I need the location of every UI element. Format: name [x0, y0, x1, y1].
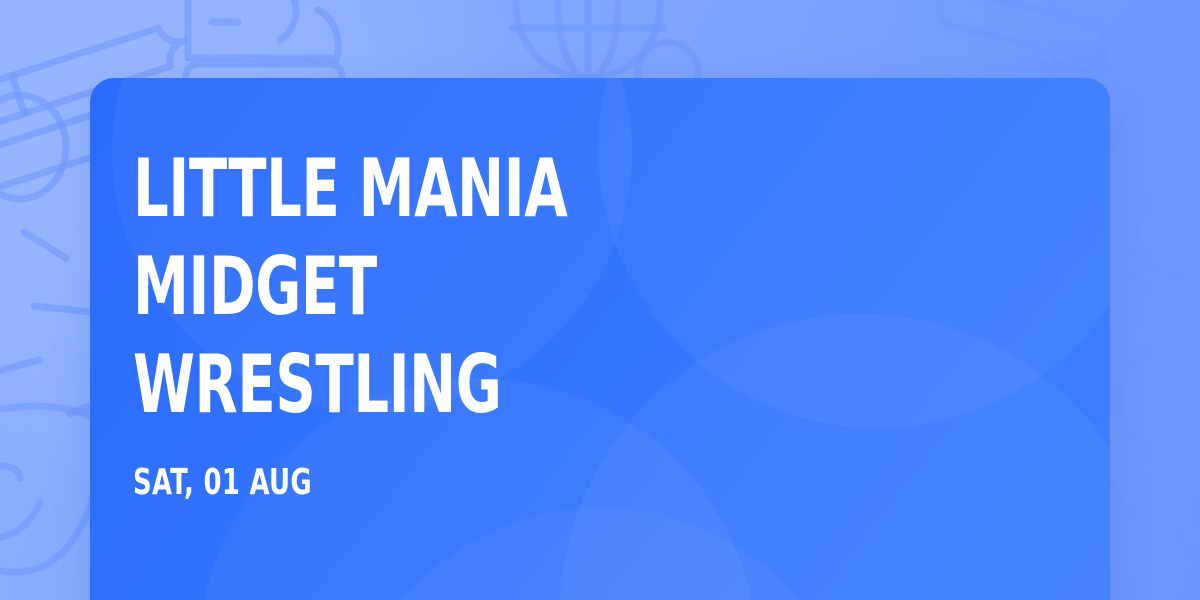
decorative-circle	[340, 508, 860, 600]
event-banner: LITTLE MANIA MIDGET WRESTLING SAT, 01 AU…	[0, 0, 1200, 600]
ribbon-icon	[1108, 480, 1200, 569]
microphone-icon	[1107, 153, 1200, 317]
event-card[interactable]: LITTLE MANIA MIDGET WRESTLING SAT, 01 AU…	[90, 78, 1110, 600]
projector-icon	[186, 0, 342, 88]
paper-plane-icon	[1120, 338, 1200, 462]
event-title: LITTLE MANIA MIDGET WRESTLING	[133, 140, 663, 434]
streamer-icon	[0, 232, 92, 372]
event-date: SAT, 01 AUG	[133, 462, 312, 504]
decorative-circle	[598, 78, 1110, 428]
